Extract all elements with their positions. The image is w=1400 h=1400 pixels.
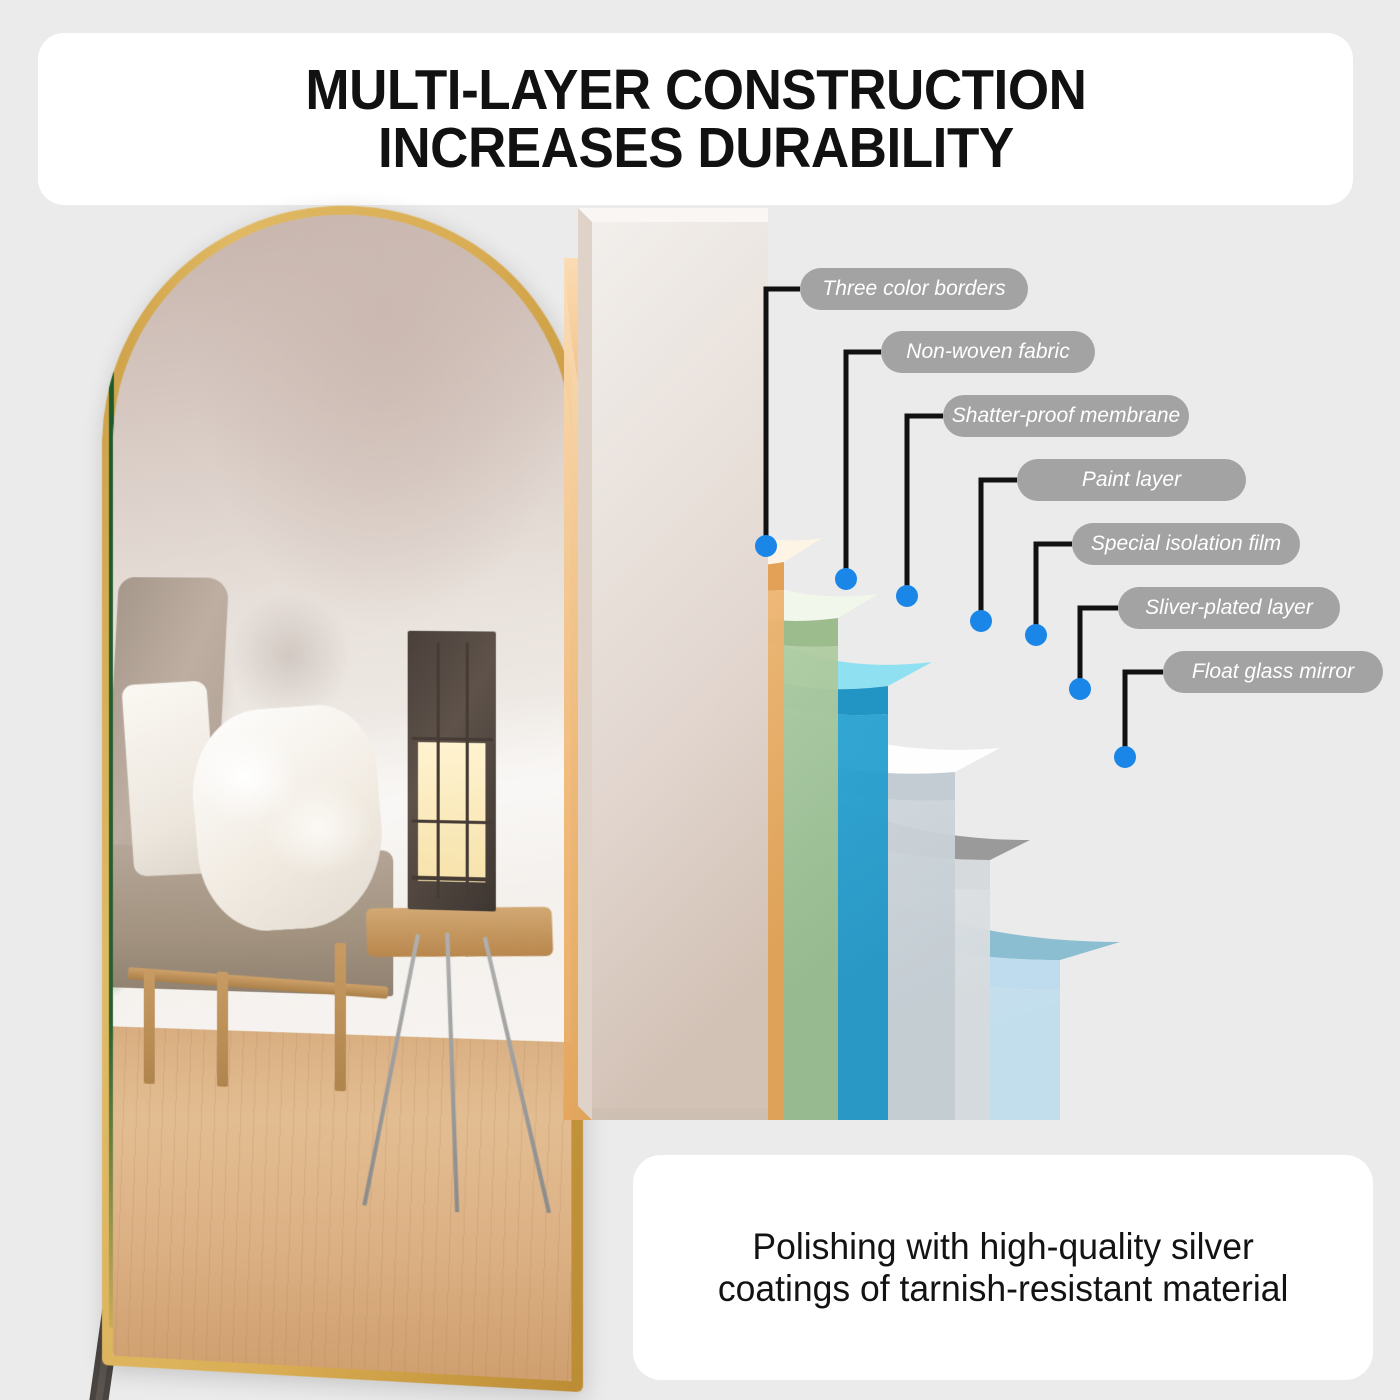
lamp-mullion (466, 642, 469, 899)
label-three-color-borders[interactable]: Three color borders (800, 268, 1028, 310)
armchair-leg (334, 943, 345, 1092)
layer-three-color-borders (578, 208, 768, 1120)
label-non-woven-fabric[interactable]: Non-woven fabric (881, 331, 1095, 373)
lamp-mullion (411, 736, 492, 740)
mirror-frame (102, 201, 583, 1392)
armchair-leg (217, 971, 228, 1087)
reflected-armchair (113, 605, 413, 1094)
label-special-isolation-film[interactable]: Special isolation film (1072, 523, 1300, 565)
layer-stack-diagram (560, 200, 1200, 1160)
lamp-glow (418, 742, 485, 883)
page-title: MULTI-LAYER CONSTRUCTION INCREASES DURAB… (305, 61, 1086, 177)
reflected-side-table-legs (380, 931, 534, 1216)
armchair-legs (128, 969, 393, 1094)
infographic-root: MULTI-LAYER CONSTRUCTION INCREASES DURAB… (0, 0, 1400, 1400)
mirror-reflection (113, 211, 571, 1381)
caption-text: Polishing with high-quality silver coati… (700, 1226, 1305, 1309)
label-shatter-proof-membrane[interactable]: Shatter-proof membrane (943, 395, 1189, 437)
reflected-lantern-lamp (408, 631, 496, 911)
label-paint-layer[interactable]: Paint layer (1017, 459, 1246, 501)
table-leg (446, 933, 460, 1212)
armchair-leg (144, 969, 155, 1084)
title-card: MULTI-LAYER CONSTRUCTION INCREASES DURAB… (38, 33, 1353, 205)
lamp-mullion (437, 642, 440, 898)
product-photo-mirror (60, 205, 590, 1385)
label-sliver-plated-layer[interactable]: Sliver-plated layer (1118, 587, 1340, 629)
label-float-glass-mirror[interactable]: Float glass mirror (1163, 651, 1383, 693)
caption-card: Polishing with high-quality silver coati… (633, 1155, 1373, 1380)
